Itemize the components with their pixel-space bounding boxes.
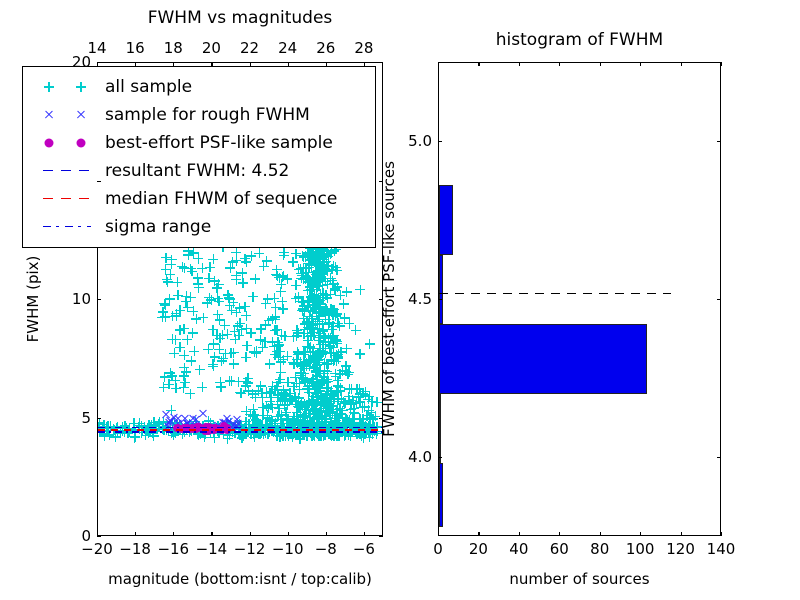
right-panel-title: histogram of FWHM xyxy=(438,30,721,50)
y-tick-right xyxy=(379,62,383,63)
hist-x-tick-top xyxy=(559,62,560,66)
y-tick-right xyxy=(379,536,383,537)
hist-x-ticklabel: 20 xyxy=(469,540,488,558)
x-ticklabel-bottom: −12 xyxy=(234,540,266,558)
legend-item: sample for rough FWHM xyxy=(29,101,367,129)
hist-x-tick xyxy=(640,532,641,536)
x-ticklabel-bottom: −16 xyxy=(157,540,189,558)
hist-x-ticklabel: 120 xyxy=(666,540,695,558)
x-tick-bottom xyxy=(288,532,289,536)
legend-item-label: best-effort PSF-like sample xyxy=(103,133,333,153)
hist-y-ticklabel: 5.0 xyxy=(408,132,432,150)
histogram-data-layer xyxy=(439,63,720,535)
x-ticklabel-top: 28 xyxy=(354,39,373,57)
legend-marker-cross-icon xyxy=(29,101,103,129)
y-ticklabel-left: 0 xyxy=(81,527,91,545)
left-x-axis-label: magnitude (bottom:isnt / top:calib) xyxy=(97,570,383,588)
x-ticklabel-top: 20 xyxy=(202,39,221,57)
x-ticklabel-top: 22 xyxy=(240,39,259,57)
legend-item-label: median FHWM of sequence xyxy=(103,189,337,209)
hist-x-tick-top xyxy=(681,62,682,66)
hist-y-tick xyxy=(438,141,442,142)
hist-x-tick-top xyxy=(519,62,520,66)
hist-x-tick xyxy=(681,532,682,536)
x-tick-top xyxy=(288,62,289,66)
hist-y-tick-right xyxy=(717,141,721,142)
legend-item-label: resultant FWHM: 4.52 xyxy=(103,161,289,181)
legend-marker-circle-icon xyxy=(29,129,103,157)
legend-marker-dashed-icon xyxy=(29,157,103,185)
hist-y-tick-right xyxy=(717,299,721,300)
y-tick-left xyxy=(97,299,101,300)
histogram-bar xyxy=(439,185,453,255)
hist-x-ticklabel: 60 xyxy=(550,540,569,558)
left-y-axis-label: FWHM (pix) xyxy=(24,256,42,343)
hist-x-tick xyxy=(721,532,722,536)
y-tick-right xyxy=(379,299,383,300)
y-tick-left xyxy=(97,181,101,182)
legend-item: all sample xyxy=(29,73,367,101)
x-ticklabel-bottom: −6 xyxy=(353,540,375,558)
x-tick-top xyxy=(364,62,365,66)
y-tick-left xyxy=(97,536,101,537)
legend-item: sigma range xyxy=(29,213,367,241)
histogram-bar xyxy=(439,324,647,394)
x-ticklabel-top: 26 xyxy=(316,39,335,57)
x-tick-top xyxy=(135,62,136,66)
legend-marker-plus-icon xyxy=(29,73,103,101)
legend-item: resultant FWHM: 4.52 xyxy=(29,157,367,185)
histogram-bar xyxy=(439,255,443,325)
legend: all samplesample for rough FWHMbest-effo… xyxy=(22,66,376,248)
hist-y-tick-right xyxy=(717,457,721,458)
hist-y-ticklabel: 4.5 xyxy=(408,290,432,308)
hist-x-tick-top xyxy=(640,62,641,66)
y-tick-left xyxy=(97,62,101,63)
y-tick-right xyxy=(379,418,383,419)
left-panel-title: FWHM vs magnitudes xyxy=(97,8,383,28)
histogram-bar xyxy=(439,463,443,526)
histogram-median-line xyxy=(439,293,671,294)
hist-x-tick-top xyxy=(478,62,479,66)
hist-x-tick-top xyxy=(600,62,601,66)
x-tick-bottom xyxy=(250,532,251,536)
legend-line-icon xyxy=(43,170,91,171)
hist-x-tick xyxy=(600,532,601,536)
hist-x-ticklabel: 100 xyxy=(626,540,655,558)
hist-y-ticklabel: 4.0 xyxy=(408,448,432,466)
y-ticklabel-left: 10 xyxy=(72,290,91,308)
hist-x-tick xyxy=(478,532,479,536)
legend-line-icon xyxy=(43,198,91,199)
histogram-bar xyxy=(439,394,441,464)
hist-x-tick xyxy=(438,532,439,536)
legend-marker-dashed-icon xyxy=(29,185,103,213)
x-tick-bottom xyxy=(211,532,212,536)
hist-x-tick xyxy=(519,532,520,536)
hist-y-tick xyxy=(438,457,442,458)
hist-x-tick-top xyxy=(438,62,439,66)
figure-canvas: FWHM vs magnitudes FWHM (pix) magnitude … xyxy=(0,0,800,600)
x-tick-bottom xyxy=(173,532,174,536)
legend-item-label: all sample xyxy=(103,77,192,97)
legend-item-label: sigma range xyxy=(103,217,211,237)
x-tick-bottom xyxy=(135,532,136,536)
hist-x-ticklabel: 80 xyxy=(590,540,609,558)
x-tick-bottom xyxy=(364,532,365,536)
x-tick-bottom xyxy=(326,532,327,536)
x-ticklabel-bottom: −10 xyxy=(272,540,304,558)
legend-item: median FHWM of sequence xyxy=(29,185,367,213)
hist-x-ticklabel: 0 xyxy=(433,540,443,558)
legend-item-label: sample for rough FWHM xyxy=(103,105,310,125)
legend-line-icon xyxy=(43,226,91,227)
hist-x-tick xyxy=(559,532,560,536)
y-tick-left xyxy=(97,418,101,419)
x-ticklabel-top: 16 xyxy=(126,39,145,57)
sigma-range-line xyxy=(98,427,382,428)
x-tick-top xyxy=(211,62,212,66)
x-tick-top xyxy=(173,62,174,66)
legend-marker-dashdot-icon xyxy=(29,213,103,241)
sigma-range-line xyxy=(98,431,382,432)
y-ticklabel-left: 5 xyxy=(81,409,91,427)
hist-y-tick xyxy=(438,299,442,300)
legend-circle-icon xyxy=(45,139,54,148)
right-x-axis-label: number of sources xyxy=(438,570,721,588)
hist-x-tick-top xyxy=(721,62,722,66)
legend-circle-icon xyxy=(77,139,86,148)
x-ticklabel-bottom: −14 xyxy=(196,540,228,558)
hist-x-ticklabel: 40 xyxy=(509,540,528,558)
legend-item: best-effort PSF-like sample xyxy=(29,129,367,157)
hist-x-ticklabel: 140 xyxy=(707,540,736,558)
x-ticklabel-top: 18 xyxy=(164,39,183,57)
x-tick-top xyxy=(250,62,251,66)
x-ticklabel-top: 24 xyxy=(278,39,297,57)
x-ticklabel-bottom: −8 xyxy=(315,540,337,558)
x-tick-top xyxy=(326,62,327,66)
x-ticklabel-bottom: −18 xyxy=(119,540,151,558)
y-tick-right xyxy=(379,181,383,182)
y-ticklabel-left: 20 xyxy=(72,53,91,71)
